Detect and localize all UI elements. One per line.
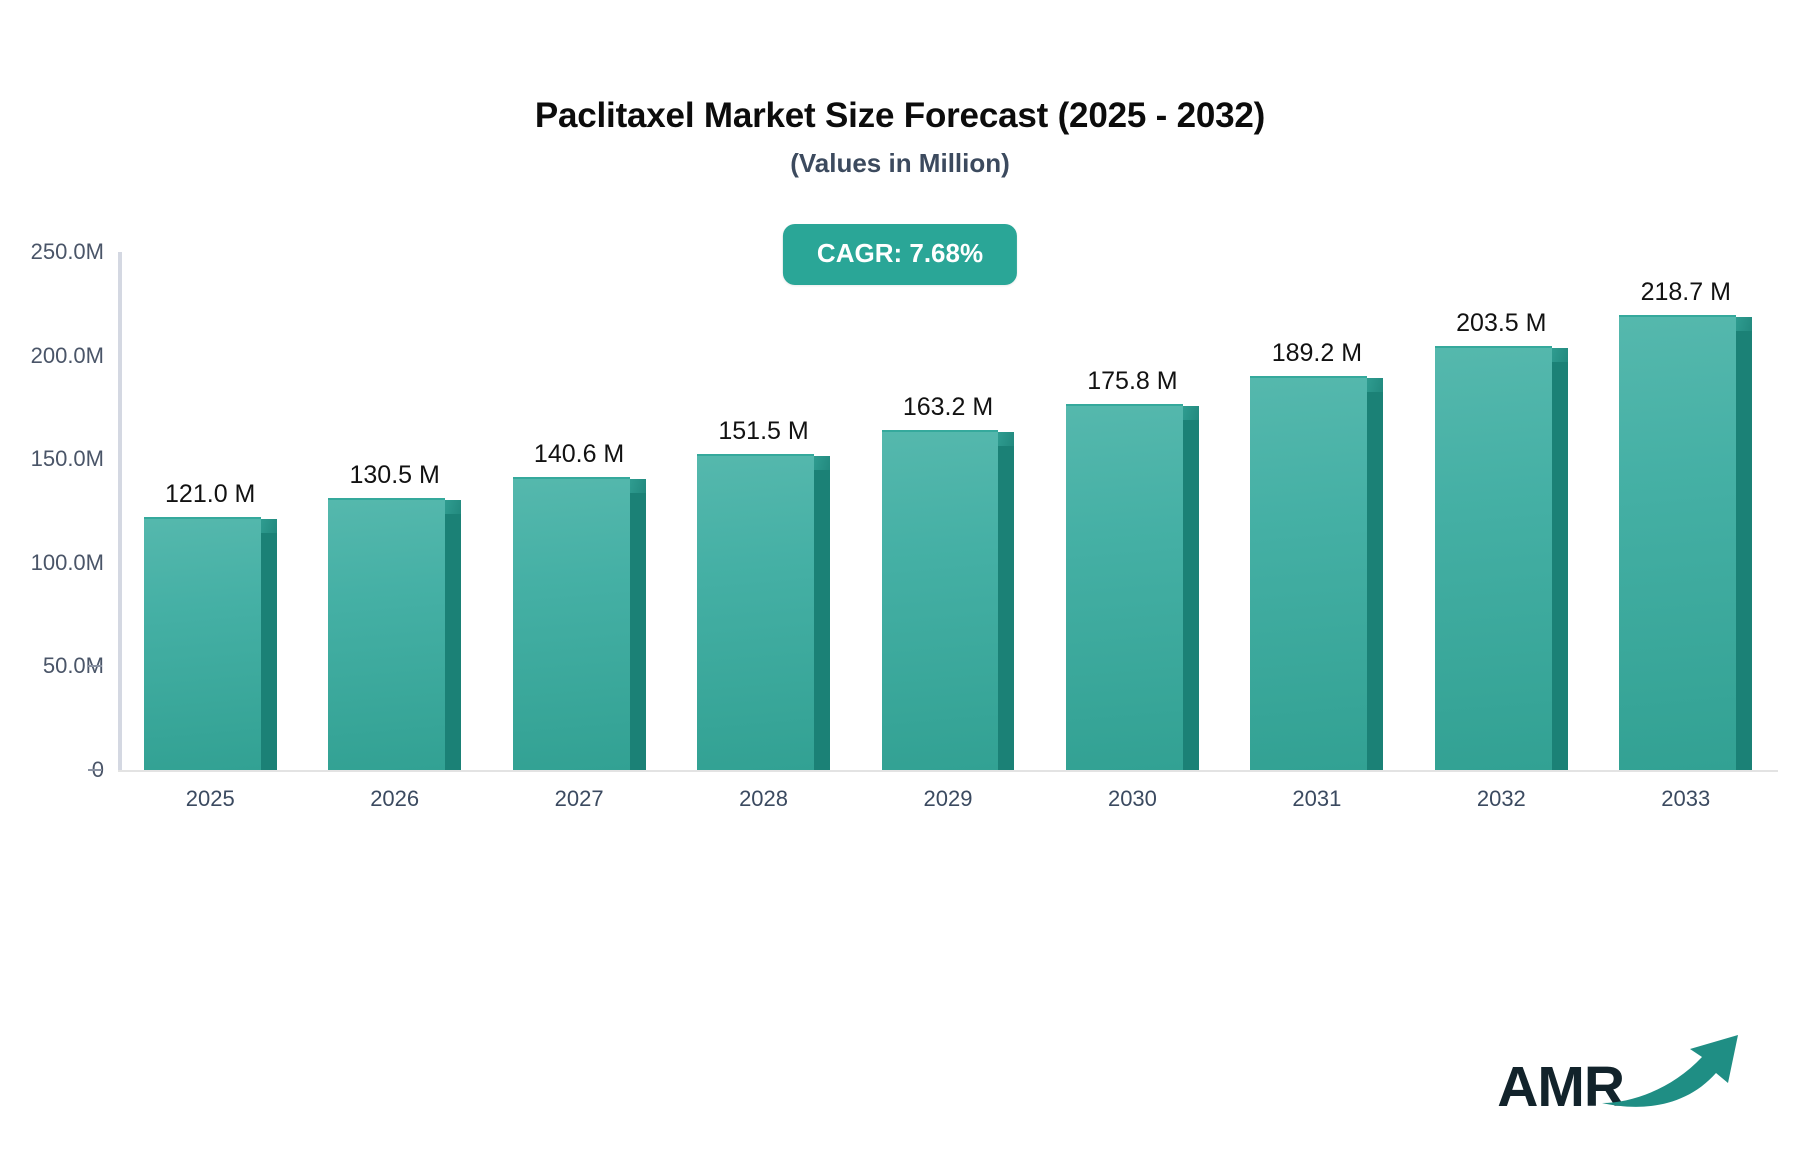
bar-front-face (882, 430, 999, 770)
chart-subtitle: (Values in Million) (0, 148, 1800, 179)
y-axis-tick-label: 150.0M (31, 446, 104, 472)
bar-value-label: 218.7 M (1619, 278, 1752, 307)
bar-front-face (1435, 346, 1552, 770)
bar[interactable] (1619, 317, 1752, 770)
bar-top-face (1552, 348, 1568, 362)
x-axis-tick-label: 2032 (1435, 786, 1568, 812)
bar-top-face (1183, 406, 1199, 420)
x-axis-tick-label: 2033 (1619, 786, 1752, 812)
bar[interactable] (1435, 348, 1568, 770)
y-axis-tick-label: 200.0M (31, 343, 104, 369)
bar-front-face (1619, 315, 1736, 770)
x-axis-tick-label: 2028 (697, 786, 830, 812)
y-axis-tick-labels: 050.0M100.0M150.0M200.0M250.0M (0, 0, 104, 1156)
bar[interactable] (1066, 406, 1199, 770)
bar-side-panel (1367, 392, 1383, 770)
bar-front-face (328, 498, 445, 770)
y-axis-tick-label: 100.0M (31, 550, 104, 576)
bar-top-face (261, 519, 277, 533)
x-axis-tick-label: 2030 (1066, 786, 1199, 812)
bar-side-panel (630, 493, 646, 770)
y-axis-tick-mark (88, 665, 102, 667)
bar-side-panel (261, 533, 277, 770)
bar-value-label: 140.6 M (513, 440, 646, 469)
x-axis-tick-label: 2025 (144, 786, 277, 812)
bar-top-face (1736, 317, 1752, 331)
bar[interactable] (513, 479, 646, 770)
y-axis-tick-label: 250.0M (31, 239, 104, 265)
bar-value-label: 203.5 M (1435, 309, 1568, 338)
plot-area: 121.0 M130.5 M140.6 M151.5 M163.2 M175.8… (118, 252, 1778, 772)
bar-value-label: 121.0 M (144, 480, 277, 509)
bar-side-panel (1736, 331, 1752, 770)
bar-top-face (998, 432, 1014, 446)
bar[interactable] (882, 432, 1015, 770)
bar[interactable] (328, 500, 461, 770)
bar-side-panel (814, 470, 830, 770)
bar[interactable] (1250, 378, 1383, 770)
bar-top-face (630, 479, 646, 493)
amr-logo: AMR (1497, 1029, 1748, 1116)
bar-value-label: 151.5 M (697, 417, 830, 446)
bar[interactable] (144, 519, 277, 770)
y-axis-tick-mark (88, 769, 102, 771)
bar-top-face (814, 456, 830, 470)
chart-title: Paclitaxel Market Size Forecast (2025 - … (0, 96, 1800, 136)
bar-value-label: 130.5 M (328, 461, 461, 490)
bar-side-panel (998, 446, 1014, 770)
x-axis-tick-label: 2027 (513, 786, 646, 812)
bar-value-label: 189.2 M (1250, 339, 1383, 368)
bar-value-label: 163.2 M (882, 393, 1015, 422)
bar-front-face (1250, 376, 1367, 770)
bar-side-panel (1183, 420, 1199, 770)
bar-top-face (1367, 378, 1383, 392)
x-axis-tick-label: 2031 (1250, 786, 1383, 812)
bar-value-label: 175.8 M (1066, 367, 1199, 396)
bar-side-panel (1552, 362, 1568, 770)
x-axis-tick-label: 2029 (882, 786, 1015, 812)
bar-top-face (445, 500, 461, 514)
bar-front-face (144, 517, 261, 770)
bar-front-face (697, 454, 814, 770)
bar-front-face (513, 477, 630, 770)
bar-side-panel (445, 514, 461, 770)
bar[interactable] (697, 456, 830, 770)
x-axis-tick-label: 2026 (328, 786, 461, 812)
bar-front-face (1066, 404, 1183, 770)
trend-up-arrow-icon (1598, 1029, 1748, 1114)
